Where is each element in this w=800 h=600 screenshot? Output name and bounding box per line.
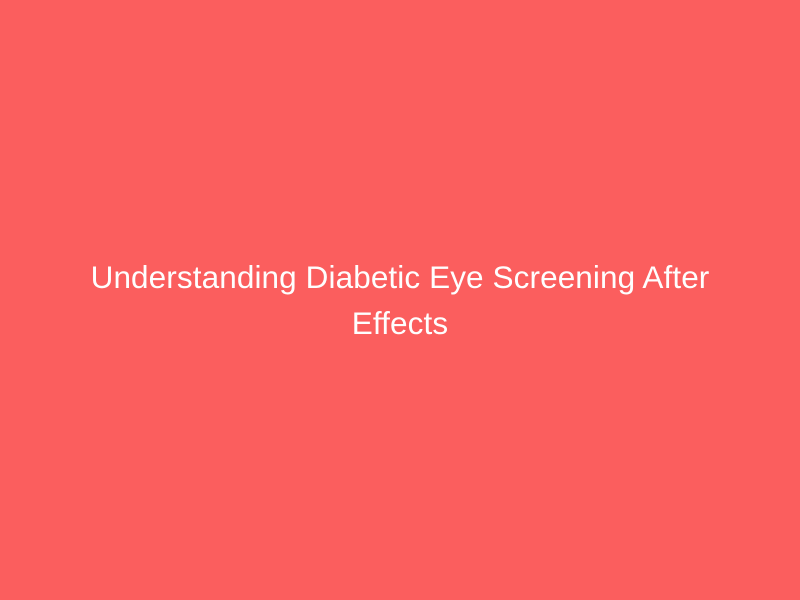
hero-banner: Understanding Diabetic Eye Screening Aft… <box>0 0 800 600</box>
hero-title-block: Understanding Diabetic Eye Screening Aft… <box>70 254 730 346</box>
page-title: Understanding Diabetic Eye Screening Aft… <box>70 254 730 346</box>
